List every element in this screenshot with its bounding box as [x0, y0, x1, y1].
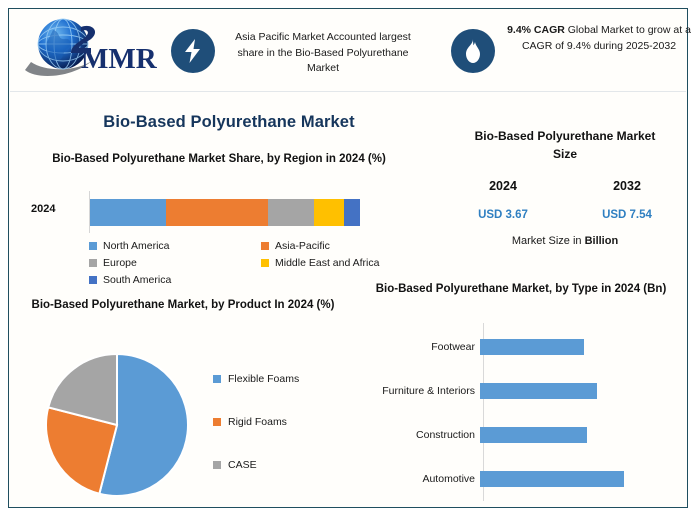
region-legend-item: North America	[89, 237, 261, 254]
type-bar-row: Footwear	[361, 325, 689, 369]
header-item-cagr-text: 9.4% CAGR Global Market to grow at a CAG…	[503, 23, 695, 54]
market-size-value-2032: USD 7.54	[602, 209, 652, 221]
logo-wordmark: MMR	[81, 43, 158, 75]
region-legend-label: Europe	[103, 257, 137, 269]
legend-swatch-icon	[213, 418, 221, 426]
product-share-chart: Bio-Based Polyurethane Market, by Produc…	[23, 297, 353, 512]
market-size-panel: Bio-Based Polyurethane Market Size 2024 …	[441, 127, 689, 267]
region-legend-label: North America	[103, 240, 170, 252]
legend-swatch-icon	[261, 259, 269, 267]
region-segment-asia-pacific	[166, 199, 269, 226]
market-size-years: 2024 2032	[441, 177, 689, 195]
type-plot-area: FootwearFurniture & InteriorsConstructio…	[361, 323, 689, 501]
type-bar-furniture-interiors	[480, 383, 597, 399]
product-pie	[44, 352, 190, 498]
type-chart-title: Bio-Based Polyurethane Market, by Type i…	[361, 281, 681, 298]
infographic-root: MMR Asia Pacific Market Accounted larges…	[0, 0, 699, 521]
legend-swatch-icon	[261, 242, 269, 250]
type-bar-label: Footwear	[361, 341, 479, 353]
product-legend-item: Rigid Foams	[213, 400, 353, 443]
region-segment-south-america	[344, 199, 360, 226]
product-legend-item: Flexible Foams	[213, 357, 353, 400]
type-bar-label: Furniture & Interiors	[361, 385, 479, 397]
region-segment-north-america	[90, 199, 166, 226]
page-title: Bio-Based Polyurethane Market	[9, 113, 449, 132]
market-size-year-right: 2032	[613, 179, 641, 193]
flame-icon	[451, 29, 495, 73]
market-size-year-left: 2024	[489, 179, 517, 193]
product-chart-title: Bio-Based Polyurethane Market, by Produc…	[23, 297, 343, 314]
region-segment-europe	[268, 199, 314, 226]
product-legend-label: Rigid Foams	[228, 416, 287, 428]
market-size-unit: Billion	[585, 235, 619, 247]
lightning-bolt-icon	[171, 29, 215, 73]
legend-swatch-icon	[213, 461, 221, 469]
product-legend-item: CASE	[213, 443, 353, 486]
region-legend-item: Middle East and Africa	[261, 254, 433, 271]
legend-swatch-icon	[89, 242, 97, 250]
market-size-values: USD 3.67 USD 7.54	[441, 205, 689, 223]
legend-swatch-icon	[89, 276, 97, 284]
product-legend-label: CASE	[228, 459, 257, 471]
region-share-chart: Bio-Based Polyurethane Market Share, by …	[23, 151, 433, 286]
legend-swatch-icon	[213, 375, 221, 383]
header-item-asia-pacific-text: Asia Pacific Market Accounted largest sh…	[223, 30, 423, 77]
type-bar-chart: Bio-Based Polyurethane Market, by Type i…	[361, 281, 689, 513]
type-bar-row: Furniture & Interiors	[361, 369, 689, 413]
type-bar-label: Automotive	[361, 473, 479, 485]
region-legend-label: South America	[103, 274, 171, 286]
product-legend: Flexible FoamsRigid FoamsCASE	[213, 357, 353, 486]
region-legend-item: Europe	[89, 254, 261, 271]
header-divider	[10, 91, 686, 92]
type-bar-construction	[480, 427, 587, 443]
market-size-footnote: Market Size in Billion	[441, 235, 689, 247]
infographic-frame: MMR Asia Pacific Market Accounted larges…	[8, 8, 688, 508]
header-band: MMR Asia Pacific Market Accounted larges…	[9, 9, 687, 91]
market-size-title: Bio-Based Polyurethane Market Size	[441, 127, 689, 163]
type-bar-row: Automotive	[361, 457, 689, 501]
region-plot-area: 2024	[23, 191, 433, 233]
region-legend-label: Middle East and Africa	[275, 257, 379, 269]
mmr-logo: MMR	[21, 14, 169, 86]
region-legend-label: Asia-Pacific	[275, 240, 330, 252]
type-bar-footwear	[480, 339, 584, 355]
type-bar-row: Construction	[361, 413, 689, 457]
legend-swatch-icon	[89, 259, 97, 267]
region-chart-title: Bio-Based Polyurethane Market Share, by …	[29, 151, 409, 168]
market-size-value-2024: USD 3.67	[478, 209, 528, 221]
cagr-heading: 9.4% CAGR	[507, 24, 565, 36]
type-bar-automotive	[480, 471, 624, 487]
region-stacked-bar	[90, 199, 360, 226]
region-legend-item: Asia-Pacific	[261, 237, 433, 254]
product-legend-label: Flexible Foams	[228, 373, 299, 385]
type-bar-label: Construction	[361, 429, 479, 441]
region-segment-middle-east-and-africa	[314, 199, 344, 226]
region-legend-item: South America	[89, 271, 261, 288]
market-size-footnote-prefix: Market Size in	[512, 235, 585, 247]
region-category-label: 2024	[31, 203, 55, 215]
